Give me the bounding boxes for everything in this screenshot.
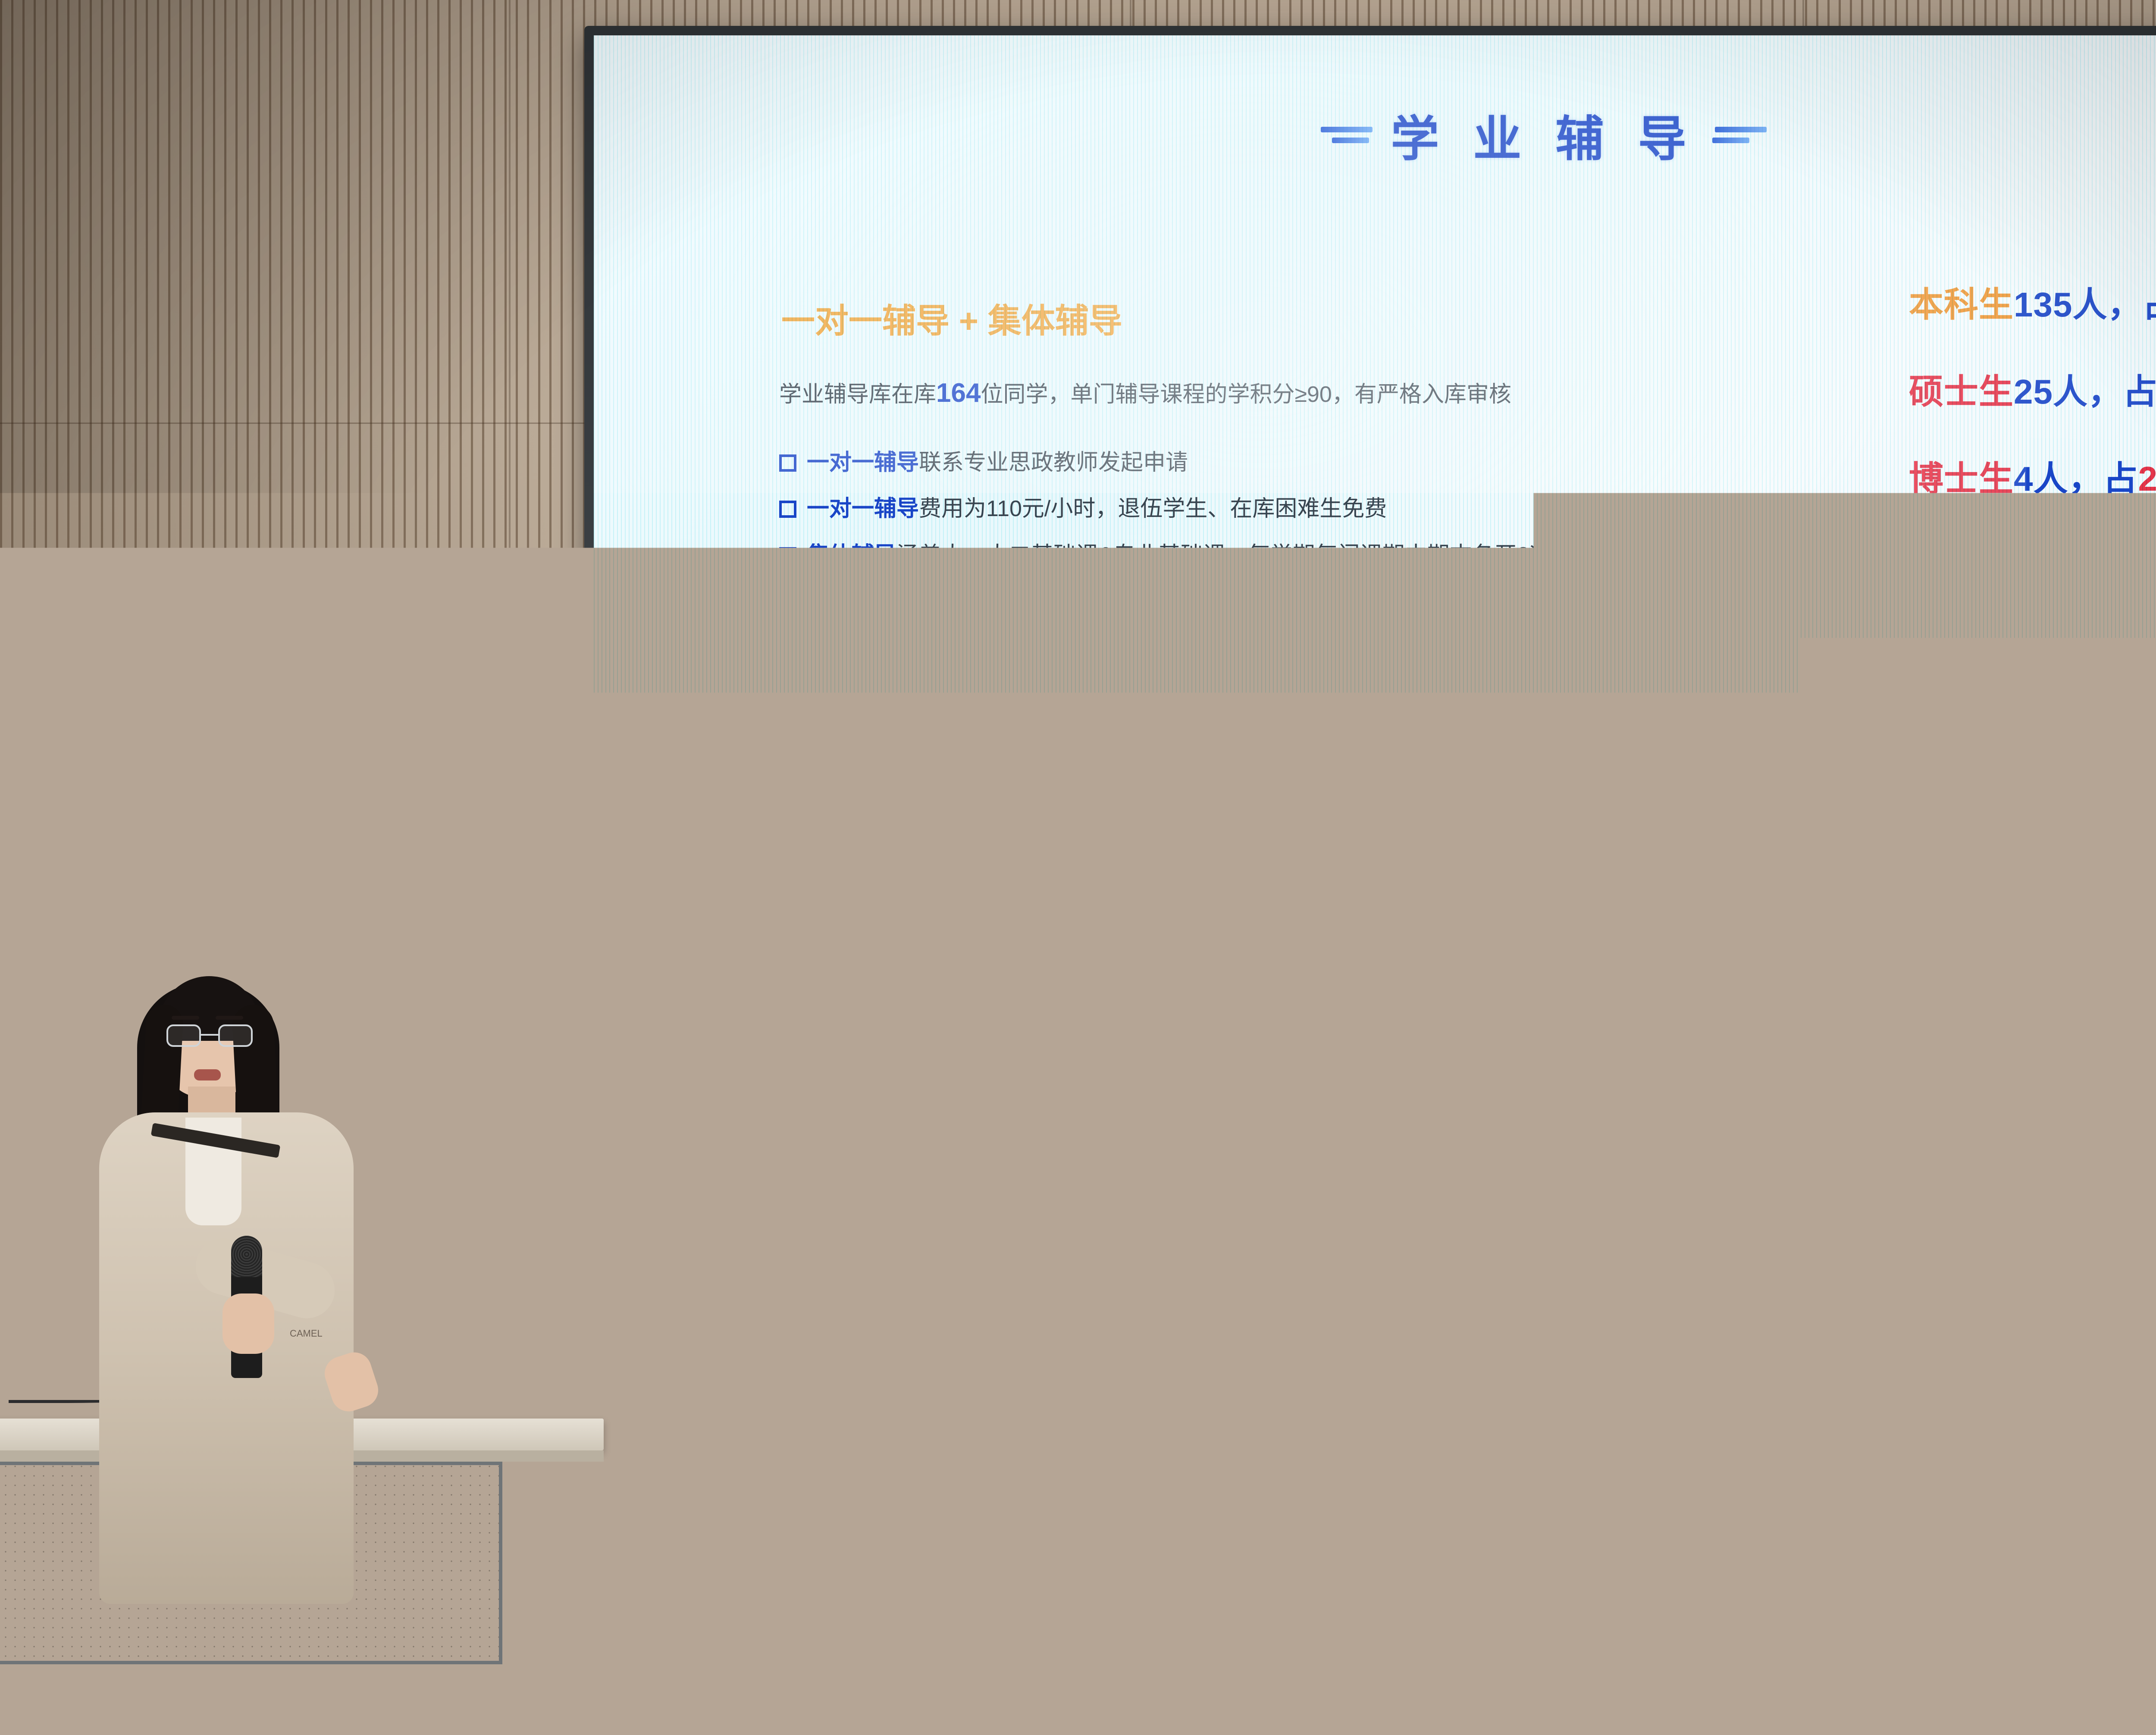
checkbox-square-icon — [779, 454, 796, 472]
interactive-whiteboard-display[interactable]: JCKZ-RSCM 学 业 辅 导 一对一辅导 + 集体辅导 — [584, 26, 2156, 1156]
monitor-body-line: 课期中期末各开2次 — [0, 983, 75, 1015]
card-caption-secondary: E学业 | 第十二周本科生集体辅导安排出炉! — [789, 989, 1009, 1002]
page-title: 学 业 辅 导 — [1391, 100, 1696, 170]
slide-subtitle: 一对一辅导 + 集体辅导 — [781, 294, 1122, 342]
list-item-highlight: 集体辅导 — [807, 589, 896, 614]
photo-lecture-hall-full-of-students — [1921, 561, 2156, 807]
card-illustration-icon — [1276, 786, 1512, 889]
donut-chart-icon — [1767, 943, 1818, 995]
card-caption: E学业 | 第十一周本科生集体辅导安排出炉! — [1037, 898, 1257, 913]
monitor-body-line: 严格入库审核 — [0, 919, 75, 951]
ir-sensor-icon — [689, 1117, 695, 1122]
list-item-rest: 联系专业思政教师发起申请 — [919, 450, 1188, 475]
stat-group: 硕士生 — [1909, 373, 2014, 411]
power-led-icon — [619, 1117, 624, 1122]
card-illustration-icon — [779, 786, 1015, 889]
app-tile-icon — [1661, 908, 1695, 938]
stat-group: 博士生 — [1909, 460, 2014, 498]
stat-separator: ，占 — [2088, 373, 2156, 411]
stat-row: 硕士生25人，占15.2% — [1909, 364, 2156, 414]
person-illustration — [1573, 811, 1637, 975]
lecture-hall-scene: JCKZ-RSCM 学 业 辅 导 一对一辅导 + 集体辅导 — [0, 0, 2156, 1735]
card-illustration-icon — [1028, 786, 1264, 889]
monitor-body-line: 学生办官方公众号 — [0, 1015, 75, 1047]
checkbox-square-icon — [779, 547, 796, 564]
mouth — [194, 1069, 221, 1080]
speaker-muted-icon — [273, 818, 283, 830]
list-item[interactable]: E学 | 第十周本科生集体辅导安排出炉! E起学起来! — [1276, 786, 1512, 1010]
card-caption-sub: E起学起来! — [1285, 915, 1505, 927]
lead-after: 位同学，单门辅导课程的学积分≥90，有严格入库审核 — [981, 382, 1511, 407]
slide-title-row: 学 业 辅 导 — [594, 100, 2156, 170]
photo-grid — [1921, 561, 2156, 1062]
photo-classroom-blackboard-and-projector — [1921, 816, 2156, 1062]
stat-separator: ，占 — [2068, 460, 2138, 498]
monitor-body-text: 严格入库审核 免费 课期中期末各开2次 学生办官方公众号 — [0, 919, 75, 1048]
list-item-highlight: 一对一辅导 — [807, 450, 919, 475]
monitor-stat-row: 本科生135人，占82.3% — [83, 889, 246, 911]
monitor-slide-title: 业 辅 导 — [0, 846, 88, 878]
presentation-slide: JCKZ-RSCM 学 业 辅 导 一对一辅导 + 集体辅导 — [594, 35, 2156, 1105]
app-tile-icon — [1661, 866, 1695, 899]
stat-count: 135人 — [2014, 285, 2107, 324]
microphone-grille-icon — [231, 1236, 262, 1277]
stat-separator: ，占 — [2107, 285, 2156, 324]
list-item[interactable]: E学业 | 第十一周本科生集体辅导安排出炉! — [1028, 786, 1264, 1010]
eyebrow — [172, 1016, 199, 1020]
list-item-rest: 费用为110元/小时，退伍学生、在库困难生免费 — [919, 496, 1387, 521]
app-tile-play-icon — [1704, 824, 1741, 857]
desk-leg — [487, 1664, 498, 1735]
glasses-icon — [166, 1024, 253, 1048]
list-item-highlight: 一对一辅导 — [807, 496, 919, 521]
card-caption: E学 | 第十周本科生集体辅导安排出炉! E起学起来! — [1285, 898, 1505, 927]
stat-count: 25人 — [2014, 373, 2088, 411]
display-brand-logo: seewo — [1520, 1117, 1567, 1134]
list-item-rest: 无需申请，时间地点内容均会放在【电院e家人】学生办官方公众号 — [896, 589, 1559, 614]
student-with-smartphone-illustration — [1555, 768, 1823, 1010]
lead-before: 学业辅导库在库 — [779, 382, 936, 407]
chair — [121, 1686, 233, 1735]
checkbox-square-icon — [779, 593, 796, 611]
stat-group: 本科生 — [1909, 285, 2014, 324]
globe-warning-icon — [287, 818, 297, 830]
presenter-person: CAMEL — [86, 931, 362, 1604]
checkbox-square-icon — [779, 501, 796, 518]
monitor-badge-label: JCKZ-RSCM — [222, 820, 269, 829]
stat-row: 博士生4人，占2.5% — [1909, 451, 2156, 501]
desk-leg — [4, 1664, 16, 1735]
monitor-status-badge: JCKZ-RSCM — [216, 817, 303, 832]
stat-percent: 2.5% — [2138, 460, 2156, 498]
list-item-highlight: 集体辅导 — [807, 543, 896, 568]
eyebrow — [216, 1016, 243, 1020]
lead-paragraph: 学业辅导库在库164位同学，单门辅导课程的学积分≥90，有严格入库审核 — [779, 376, 1511, 408]
title-decoration-left-icon — [1321, 127, 1373, 143]
card-caption-text: E学 | 第十周本科生集体辅导安排出炉! — [1285, 899, 1473, 911]
statistics-block: 本科生135人，占82.3% 硕士生25人，占15.2% 博士生4人，占2.5% — [1909, 277, 2156, 538]
card-caption: E学 | 2022年电院本科生秋季学期学业辅导，来啦! — [789, 898, 1009, 928]
stat-row: 本科生135人，占82.3% — [1909, 277, 2156, 327]
hand-holding-microphone — [222, 1293, 274, 1354]
lead-highlight: 164 — [936, 378, 981, 408]
jacket-brand-logo: CAMEL — [290, 1328, 316, 1348]
list-item[interactable]: E学 | 2022年电院本科生秋季学期学业辅导，来啦! E学业 | 第十二周本科… — [779, 786, 1015, 1010]
wechat-article-cards: E学 | 2022年电院本科生秋季学期学业辅导，来啦! E学业 | 第十二周本科… — [779, 786, 1512, 1010]
display-chin: seewo — [594, 1105, 2156, 1146]
wall-seam-vertical — [509, 0, 511, 1518]
display-screen[interactable]: JCKZ-RSCM 学 业 辅 导 一对一辅导 + 集体辅导 — [594, 35, 2156, 1105]
title-decoration-right-icon — [1715, 127, 1767, 143]
display-controls[interactable] — [619, 1117, 695, 1122]
sensor-bar-icon — [631, 1118, 683, 1121]
stat-count: 4人 — [2014, 460, 2068, 498]
app-tile-icon — [1704, 866, 1741, 899]
monitor-body-line: 免费 — [0, 951, 75, 983]
list-item-rest: 涵盖大一大二基础课&专业基础课，每学期每门课期中期末各开2次 — [896, 543, 1552, 568]
